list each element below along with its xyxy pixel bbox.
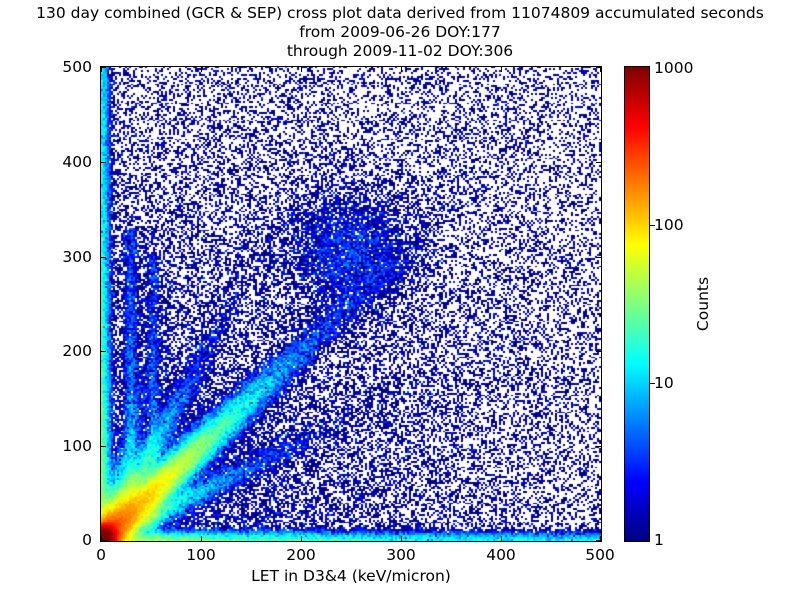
colorbar-tick-label-100: 100 bbox=[654, 216, 684, 234]
figure-root: 130 day combined (GCR & SEP) cross plot … bbox=[0, 0, 800, 600]
y-tick-100 bbox=[101, 446, 106, 447]
x-tick-top-300 bbox=[401, 67, 402, 72]
density-heatmap-canvas bbox=[101, 67, 601, 541]
x-tick-label-300: 300 bbox=[386, 546, 416, 564]
y-tick-right-300 bbox=[596, 257, 601, 258]
y-tick-label-200: 200 bbox=[0, 342, 92, 360]
y-tick-500 bbox=[101, 67, 106, 68]
x-tick-top-100 bbox=[201, 67, 202, 72]
x-tick-label-200: 200 bbox=[286, 546, 316, 564]
x-tick-300 bbox=[401, 536, 402, 541]
x-tick-200 bbox=[301, 536, 302, 541]
y-tick-400 bbox=[101, 162, 106, 163]
y-tick-right-500 bbox=[596, 67, 601, 68]
x-tick-400 bbox=[501, 536, 502, 541]
x-tick-label-500: 500 bbox=[585, 546, 615, 564]
title-line-1: 130 day combined (GCR & SEP) cross plot … bbox=[0, 4, 800, 23]
y-tick-label-300: 300 bbox=[0, 248, 92, 266]
colorbar bbox=[624, 66, 650, 542]
title-line-2: from 2009-06-26 DOY:177 bbox=[0, 23, 800, 42]
y-tick-right-100 bbox=[596, 446, 601, 447]
colorbar-tick-label-1: 1 bbox=[654, 531, 664, 549]
y-tick-label-400: 400 bbox=[0, 153, 92, 171]
colorbar-tick-label-1000: 1000 bbox=[654, 59, 693, 77]
x-tick-label-400: 400 bbox=[486, 546, 516, 564]
y-tick-300 bbox=[101, 257, 106, 258]
x-tick-label-0: 0 bbox=[96, 546, 106, 564]
y-tick-right-200 bbox=[596, 351, 601, 352]
colorbar-gradient bbox=[625, 67, 649, 541]
plot-area bbox=[100, 66, 602, 542]
chart-title: 130 day combined (GCR & SEP) cross plot … bbox=[0, 4, 800, 61]
colorbar-tick-label-10: 10 bbox=[654, 374, 674, 392]
y-tick-right-400 bbox=[596, 162, 601, 163]
x-tick-top-400 bbox=[501, 67, 502, 72]
colorbar-label: Counts bbox=[694, 204, 712, 404]
y-tick-right-0 bbox=[596, 540, 601, 541]
x-tick-100 bbox=[201, 536, 202, 541]
y-tick-0 bbox=[101, 540, 106, 541]
y-tick-label-0: 0 bbox=[0, 531, 92, 549]
y-tick-label-100: 100 bbox=[0, 437, 92, 455]
x-tick-top-200 bbox=[301, 67, 302, 72]
y-tick-200 bbox=[101, 351, 106, 352]
x-tick-label-100: 100 bbox=[186, 546, 216, 564]
y-tick-label-500: 500 bbox=[0, 58, 92, 76]
x-axis-label: LET in D3&4 (keV/micron) bbox=[100, 567, 602, 585]
